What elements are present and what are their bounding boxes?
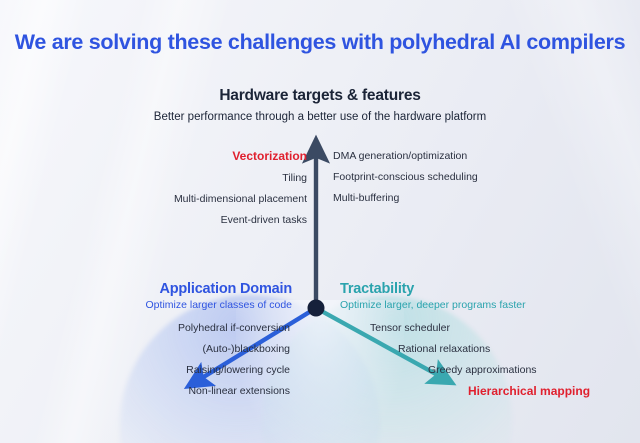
list-item: Rational relaxations <box>370 343 630 355</box>
list-item: (Auto-)blackboxing <box>20 343 290 355</box>
list-item: Non-linear extensions <box>20 385 290 397</box>
application-domain-heading-block: Application Domain Optimize larger class… <box>146 281 292 312</box>
list-item: Footprint-conscious scheduling <box>333 171 563 183</box>
list-item: Multi-dimensional placement <box>140 193 307 205</box>
vertical-axis-subheading: Better performance through a better use … <box>0 111 640 123</box>
tractability-heading-block: Tractability Optimize larger, deeper pro… <box>340 281 526 312</box>
list-item: Tiling <box>140 172 307 184</box>
list-item: Polyhedral if-conversion <box>20 322 290 334</box>
vertical-axis-left-list: Vectorization Tiling Multi-dimensional p… <box>140 150 307 235</box>
list-item: Event-driven tasks <box>140 214 307 226</box>
list-item: Multi-buffering <box>333 192 563 204</box>
tractability-subtitle: Optimize larger, deeper programs faster <box>340 298 526 312</box>
list-item: Hierarchical mapping <box>370 385 630 398</box>
tractability-list: Tensor scheduler Rational relaxations Gr… <box>370 322 630 407</box>
list-item: Tensor scheduler <box>370 322 630 334</box>
vertical-axis-heading: Hardware targets & features <box>0 87 640 105</box>
list-item: Vectorization <box>140 150 307 163</box>
page-title: We are solving these challenges with pol… <box>0 30 640 55</box>
application-domain-subtitle: Optimize larger classes of code <box>146 298 292 312</box>
hub-node <box>308 300 325 317</box>
vertical-axis-right-list: DMA generation/optimization Footprint-co… <box>333 150 563 213</box>
application-domain-title: Application Domain <box>146 281 292 298</box>
slide-canvas: We are solving these challenges with pol… <box>0 0 640 443</box>
list-item: DMA generation/optimization <box>333 150 563 162</box>
list-item: Greedy approximations <box>370 364 630 376</box>
tractability-title: Tractability <box>340 281 526 298</box>
list-item: Raising/lowering cycle <box>20 364 290 376</box>
application-domain-list: Polyhedral if-conversion (Auto-)blackbox… <box>20 322 290 406</box>
